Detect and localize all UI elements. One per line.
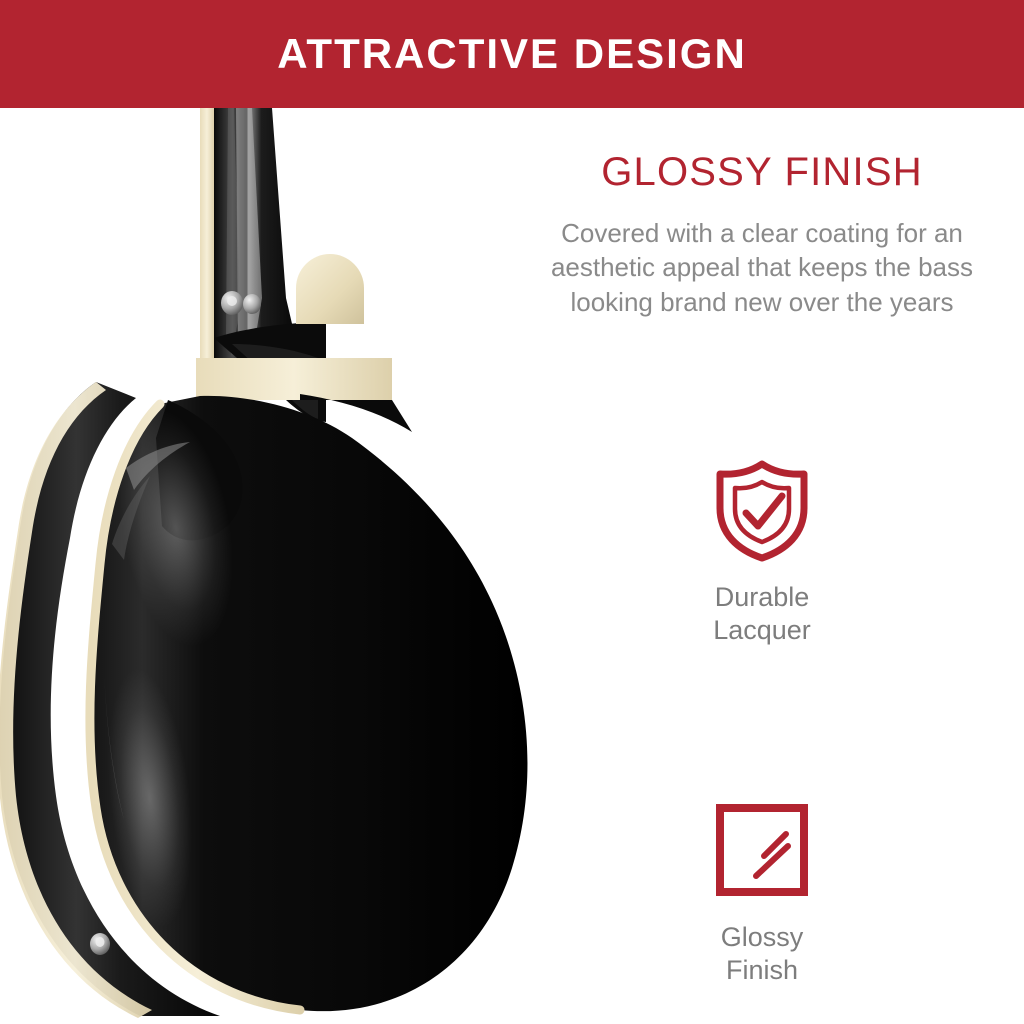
guitar-illustration bbox=[0, 108, 600, 1024]
strap-button-lower bbox=[90, 933, 110, 955]
infographic-page: ATTRACTIVE DESIGN bbox=[0, 0, 1024, 1024]
section-heading: GLOSSY FINISH bbox=[512, 150, 1012, 194]
product-image bbox=[0, 108, 600, 1024]
info-column: GLOSSY FINISH Covered with a clear coati… bbox=[512, 150, 1012, 319]
header-title: ATTRACTIVE DESIGN bbox=[277, 33, 747, 75]
section-description: Covered with a clear coating for an aest… bbox=[512, 216, 1012, 319]
shield-check-icon bbox=[707, 455, 817, 565]
feature-label: Glossy Finish bbox=[721, 921, 804, 987]
feature-list: Durable Lacquer Glossy Finish bbox=[512, 455, 1012, 987]
feature-item-glossy-finish: Glossy Finish bbox=[707, 795, 817, 987]
feature-item-durable-lacquer: Durable Lacquer bbox=[707, 455, 817, 647]
feature-label: Durable Lacquer bbox=[713, 581, 811, 647]
header-banner: ATTRACTIVE DESIGN bbox=[0, 0, 1024, 108]
glossy-square-shine-icon bbox=[707, 795, 817, 905]
